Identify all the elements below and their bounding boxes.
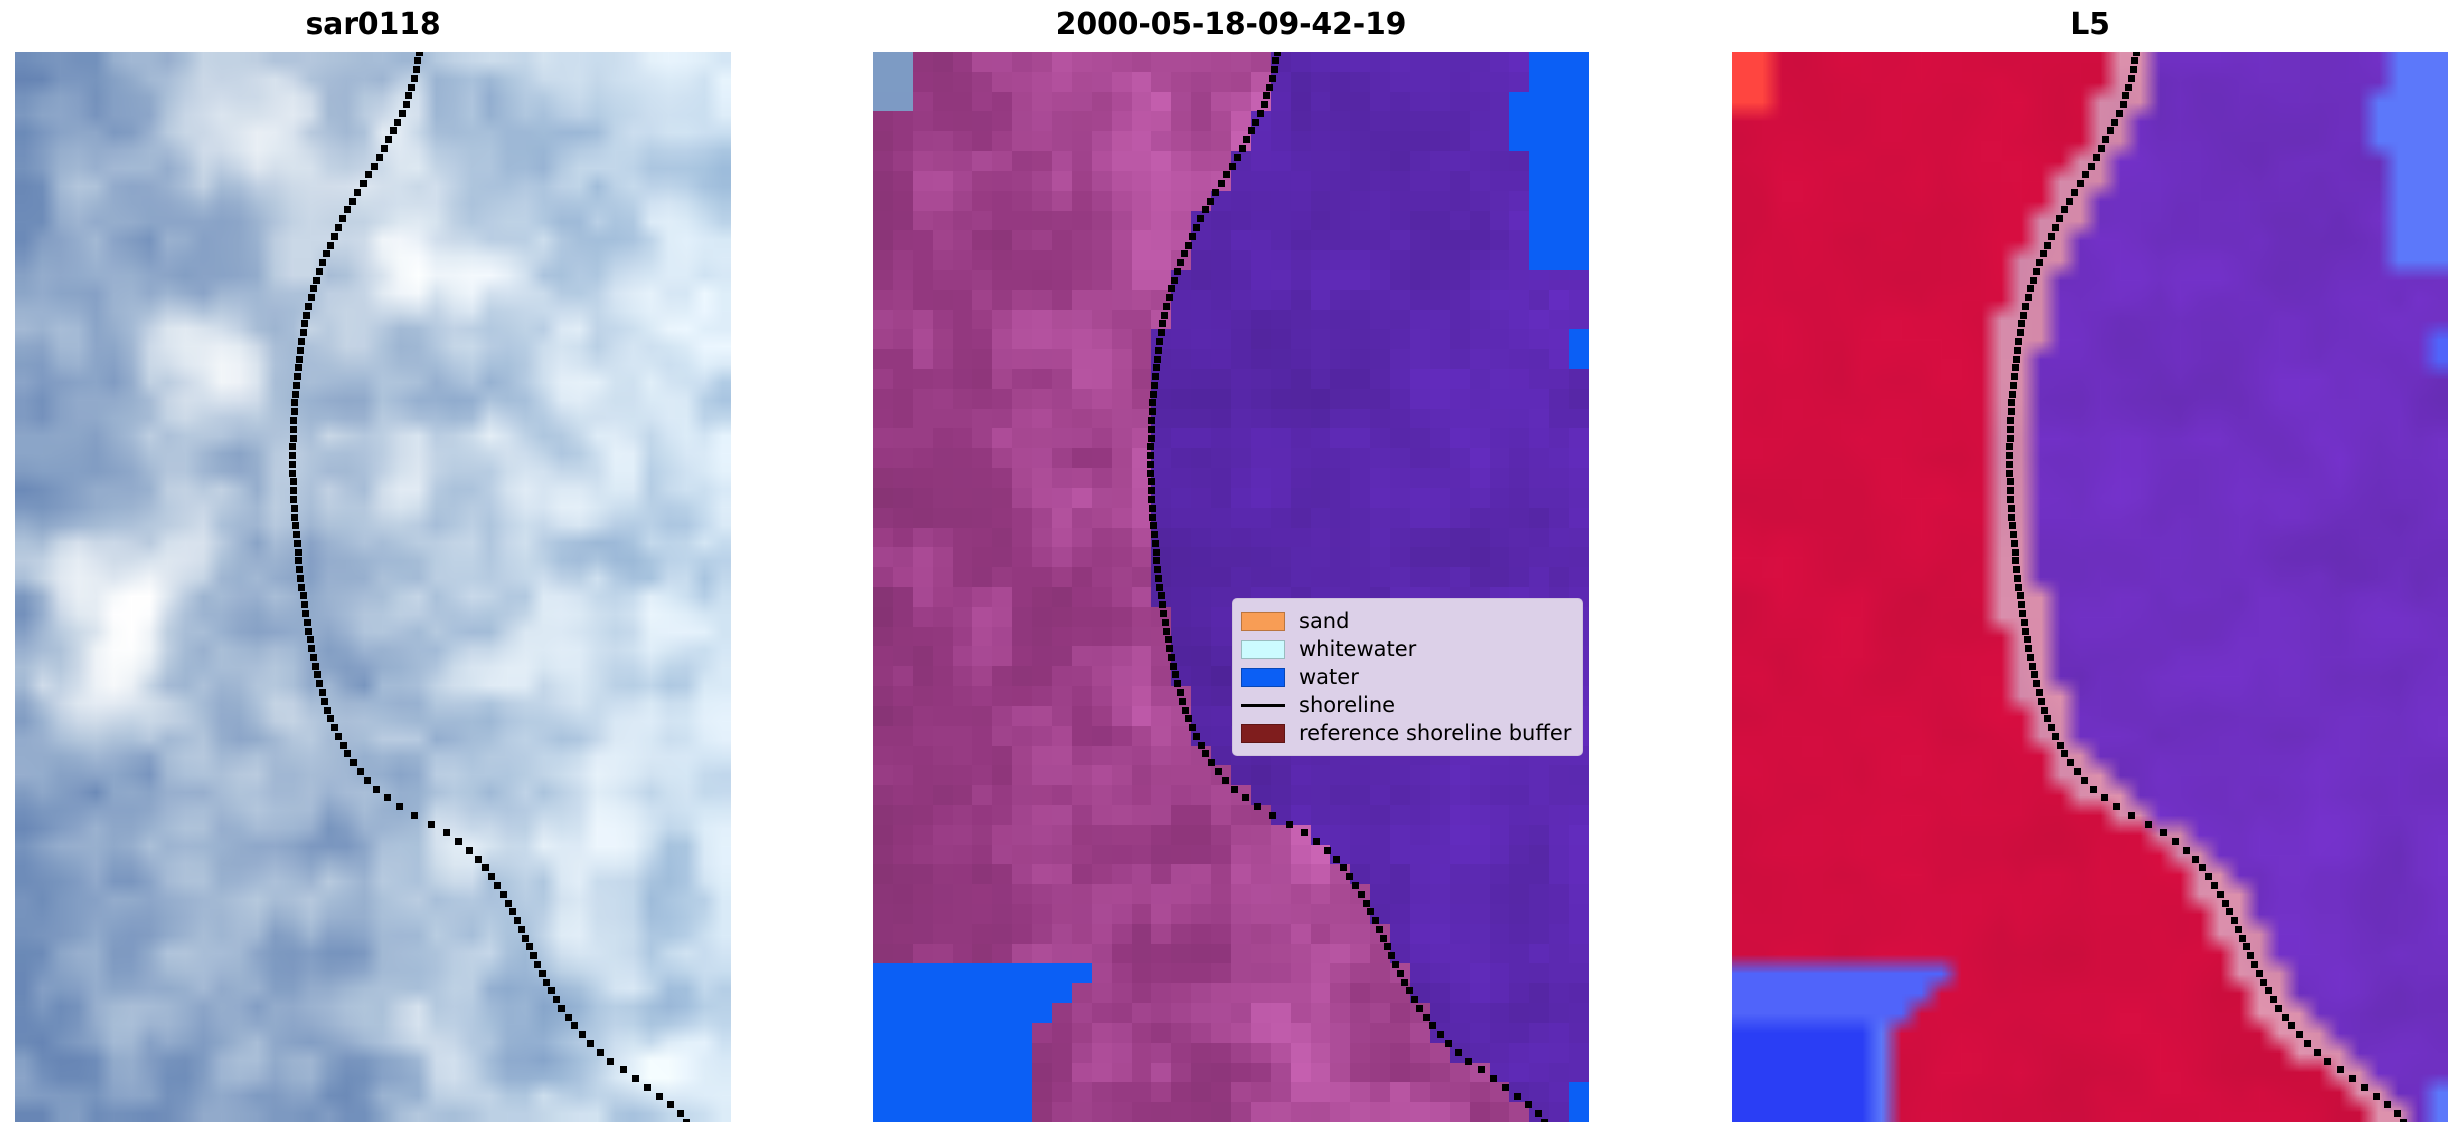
legend-item-whitewater: whitewater [1241, 635, 1572, 663]
legend-item-sand: sand [1241, 607, 1572, 635]
legend-item-reference-shoreline-buffer: reference shoreline buffer [1241, 719, 1572, 747]
water-swatch-icon [1241, 668, 1285, 687]
shoreline-line-icon [1241, 704, 1285, 707]
legend-label-water: water [1299, 666, 1359, 688]
panel-sar: sar0118 [15, 52, 731, 1122]
legend: sand whitewater water shoreline referenc… [1232, 598, 1583, 756]
panel-title-l5: L5 [1732, 8, 2448, 42]
panel-classification: 2000-05-18-09-42-19 [873, 52, 1589, 1122]
panel-canvas-l5 [1732, 52, 2448, 1122]
whitewater-swatch-icon [1241, 640, 1285, 659]
panel-title-sar: sar0118 [15, 8, 731, 42]
sand-swatch-icon [1241, 612, 1285, 631]
legend-label-reference-shoreline-buffer: reference shoreline buffer [1299, 722, 1571, 744]
legend-item-shoreline: shoreline [1241, 691, 1572, 719]
panel-canvas-classification [873, 52, 1589, 1122]
legend-item-water: water [1241, 663, 1572, 691]
figure-root: sar0118 2000-05-18-09-42-19 L5 sand whit… [0, 0, 2460, 1140]
legend-label-sand: sand [1299, 610, 1349, 632]
reference-shoreline-buffer-swatch-icon [1241, 724, 1285, 743]
panel-title-classification: 2000-05-18-09-42-19 [873, 8, 1589, 42]
panel-l5: L5 [1732, 52, 2448, 1122]
legend-label-whitewater: whitewater [1299, 638, 1416, 660]
legend-label-shoreline: shoreline [1299, 694, 1395, 716]
panel-canvas-sar [15, 52, 731, 1122]
